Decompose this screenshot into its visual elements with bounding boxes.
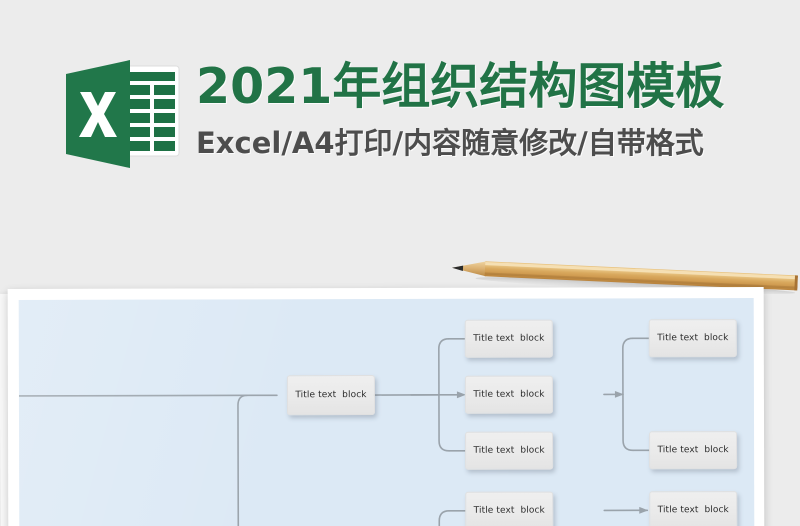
excel-logo <box>60 58 185 170</box>
org-node-label: Title text block <box>473 334 544 344</box>
org-node-n8[interactable]: Title text block <box>649 491 737 526</box>
paper-sheet-front: Title text block Title text block Title … <box>8 287 765 526</box>
org-node-label: Title text block <box>658 505 729 515</box>
org-node-label: Title text block <box>473 446 544 456</box>
page-title: 2021年组织结构图模板 <box>196 56 796 118</box>
org-node-n5[interactable]: Title text block <box>465 492 553 526</box>
org-node-n7[interactable]: Title text block <box>649 431 737 469</box>
org-node-n6[interactable]: Title text block <box>649 319 737 357</box>
org-node-n4[interactable]: Title text block <box>465 432 553 470</box>
screenshot-root: 2021年组织结构图模板 Excel/A4打印/内容随意修改/自带格式 <box>0 0 800 526</box>
org-node-label: Title text block <box>295 390 366 400</box>
org-node-n2[interactable]: Title text block <box>465 320 553 358</box>
page-subtitle: Excel/A4打印/内容随意修改/自带格式 <box>196 124 796 162</box>
org-node-label: Title text block <box>657 333 728 343</box>
org-node-n1[interactable]: Title text block <box>287 375 375 415</box>
document-stack: Title text block Title text block Title … <box>0 286 754 526</box>
org-chart-canvas: Title text block Title text block Title … <box>19 298 755 526</box>
org-node-label: Title text block <box>657 445 728 455</box>
header-banner: 2021年组织结构图模板 Excel/A4打印/内容随意修改/自带格式 <box>0 0 800 250</box>
org-node-n3[interactable]: Title text block <box>465 376 553 414</box>
org-chart-connectors <box>19 298 755 526</box>
org-node-label: Title text block <box>474 506 545 516</box>
org-node-label: Title text block <box>473 390 544 400</box>
title-group: 2021年组织结构图模板 Excel/A4打印/内容随意修改/自带格式 <box>196 56 796 162</box>
